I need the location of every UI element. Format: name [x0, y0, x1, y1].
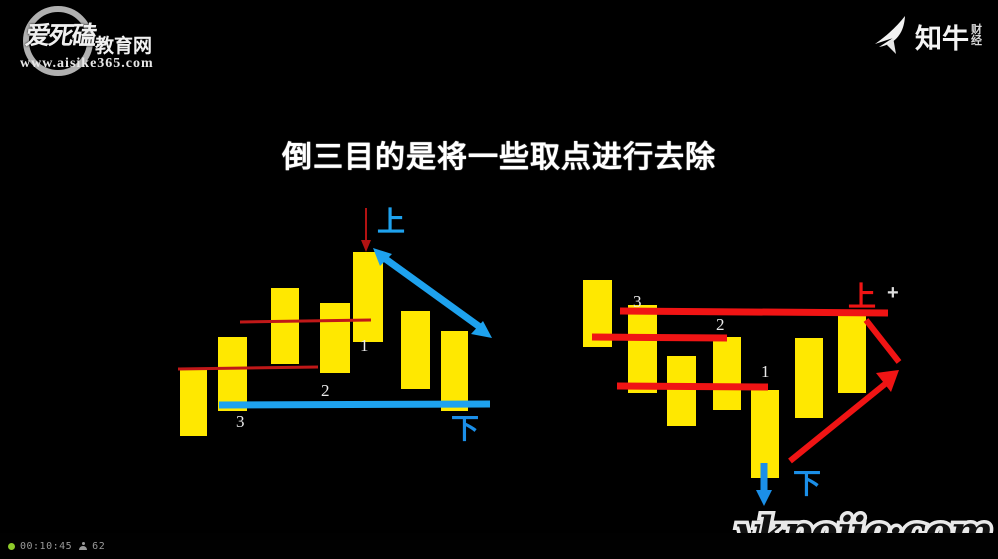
breakdown-arrow-red [866, 320, 899, 362]
viewer-count: 62 [92, 541, 105, 552]
elapsed-time: 00:10:45 [20, 541, 72, 552]
drop-arrow-head [756, 490, 772, 506]
level-red-mid [592, 337, 727, 338]
right-chart-annotations [0, 0, 998, 520]
rebound-arrow-head [876, 370, 899, 392]
player-status-bar: 00:10:45 62 [0, 533, 998, 559]
candle-bar [751, 390, 779, 478]
person-icon [79, 542, 87, 551]
point-label-1: 1 [761, 362, 770, 382]
glyph-xia-down: 下 [793, 470, 821, 498]
candle-bar [713, 337, 741, 410]
candle-bar [667, 356, 696, 426]
plus-mark-icon: + [887, 282, 899, 305]
video-frame: 爱死磕 教育网 www.aisike365.com 知牛 财 经 倒三目的是将一… [0, 0, 998, 559]
candle-bar [838, 313, 866, 393]
point-label-3: 3 [633, 292, 642, 312]
point-label-2: 2 [716, 315, 725, 335]
candle-bar [583, 280, 612, 347]
candle-bar [628, 305, 657, 393]
glyph-shang-up: 上 [848, 283, 876, 311]
recording-dot-icon [8, 543, 15, 550]
right-chart: 1 2 3 上 下 + [0, 0, 998, 520]
candle-bar [795, 338, 823, 418]
